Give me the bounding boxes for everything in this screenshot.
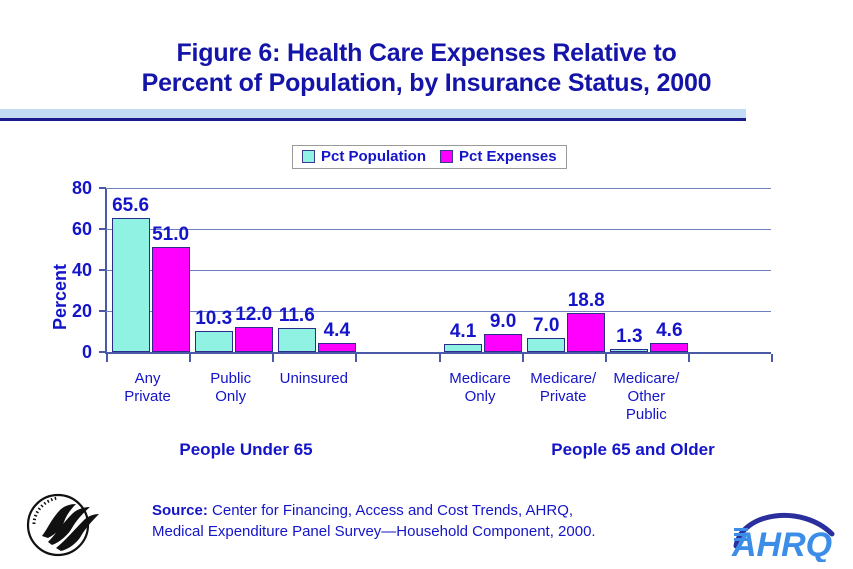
legend-label-expenses: Pct Expenses: [459, 149, 557, 164]
x-tick-mark: [771, 354, 773, 362]
bar-expenses: [235, 327, 273, 352]
group-header-under-65: People Under 65: [118, 441, 374, 458]
y-tick-mark: [99, 228, 106, 230]
legend-item-population: Pct Population: [302, 149, 426, 164]
x-tick-mark: [355, 354, 357, 362]
bar-population: [195, 331, 233, 352]
source-note: Source: Center for Financing, Access and…: [152, 500, 672, 542]
bar-value-label: 4.6: [639, 321, 699, 340]
bar-expenses: [650, 343, 688, 352]
bar-value-label: 65.6: [101, 196, 161, 215]
figure-root: Figure 6: Health Care Expenses Relative …: [0, 0, 853, 569]
page-title: Figure 6: Health Care Expenses Relative …: [0, 38, 853, 98]
y-axis-title: Percent: [50, 264, 71, 330]
x-tick-mark: [439, 354, 441, 362]
bar-population: [610, 349, 648, 352]
y-tick-mark: [99, 310, 106, 312]
y-tick-label: 20: [72, 302, 92, 320]
svg-text:AHRQ: AHRQ: [731, 526, 832, 562]
hhs-seal-icon: [22, 488, 108, 562]
y-tick-mark: [99, 269, 106, 271]
y-tick-label: 40: [72, 261, 92, 279]
title-rule-band: [0, 109, 746, 118]
bar-value-label: 18.8: [556, 291, 616, 310]
group-header-65-and-older: People 65 and Older: [505, 441, 761, 458]
title-rule-line: [0, 118, 746, 121]
ahrq-logo-icon: AHRQ: [728, 500, 840, 562]
category-label: Medicare/OtherPublic: [586, 370, 706, 424]
bar-expenses: [484, 334, 522, 352]
category-label-line: Other: [586, 388, 706, 406]
chart-plot-area: 02040608065.610.311.64.17.01.351.012.04.…: [106, 188, 771, 352]
bar-population: [444, 344, 482, 352]
legend-item-expenses: Pct Expenses: [440, 149, 557, 164]
bar-value-label: 12.0: [224, 305, 284, 324]
x-tick-mark: [272, 354, 274, 362]
y-tick-label: 60: [72, 220, 92, 238]
bar-expenses: [567, 313, 605, 352]
source-label: Source:: [152, 502, 208, 519]
category-label-line: Uninsured: [254, 370, 374, 388]
gridline: [106, 229, 771, 230]
category-label-line: Medicare/: [586, 370, 706, 388]
x-tick-mark: [106, 354, 108, 362]
title-line-1: Figure 6: Health Care Expenses Relative …: [0, 38, 853, 68]
gridline: [106, 188, 771, 189]
legend-swatch-expenses-icon: [440, 150, 453, 163]
category-label: Uninsured: [254, 370, 374, 388]
x-tick-mark: [688, 354, 690, 362]
chart-legend: Pct Population Pct Expenses: [292, 145, 567, 169]
legend-swatch-population-icon: [302, 150, 315, 163]
title-rule: [0, 109, 746, 121]
bar-expenses: [318, 343, 356, 352]
source-text-1: Center for Financing, Access and Cost Tr…: [208, 502, 573, 519]
bar-value-label: 9.0: [473, 312, 533, 331]
y-tick-mark: [99, 351, 106, 353]
title-line-2: Percent of Population, by Insurance Stat…: [0, 68, 853, 98]
x-tick-mark: [605, 354, 607, 362]
legend-label-population: Pct Population: [321, 149, 426, 164]
y-tick-label: 0: [82, 343, 92, 361]
y-tick-label: 80: [72, 179, 92, 197]
bar-expenses: [152, 247, 190, 352]
gridline: [106, 270, 771, 271]
bar-value-label: 4.4: [307, 321, 367, 340]
x-tick-mark: [522, 354, 524, 362]
x-tick-mark: [189, 354, 191, 362]
category-label-line: Only: [171, 388, 291, 406]
source-line-2: Medical Expenditure Panel Survey—Househo…: [152, 521, 672, 542]
y-tick-mark: [99, 187, 106, 189]
category-label-line: Public: [586, 406, 706, 424]
bar-value-label: 51.0: [141, 225, 201, 244]
bar-population: [527, 338, 565, 352]
source-line-1: Source: Center for Financing, Access and…: [152, 500, 672, 521]
